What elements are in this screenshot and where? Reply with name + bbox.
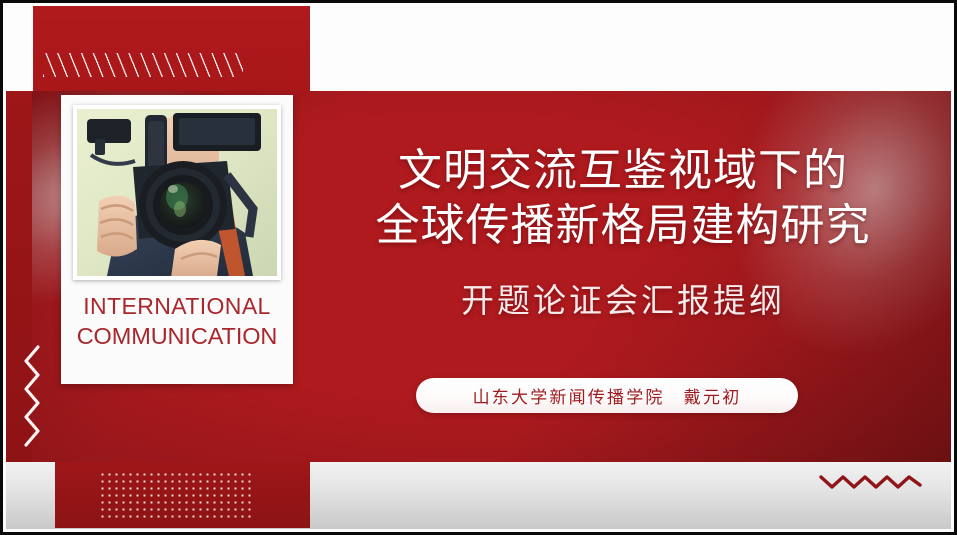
title-line-2: 全球传播新格局建构研究 — [333, 198, 913, 253]
presentation-slide: INTERNATIONAL COMMUNICATION 文明交流互鉴视域下的 全… — [0, 0, 957, 535]
title-line-1: 文明交流互鉴视域下的 — [333, 143, 913, 198]
red-zigzag-horizontal-icon — [819, 469, 929, 493]
card-caption: INTERNATIONAL COMMUNICATION — [61, 291, 293, 351]
photo-frame — [73, 105, 281, 280]
slide-title: 文明交流互鉴视域下的 全球传播新格局建构研究 — [333, 143, 913, 253]
videographer-photo — [77, 109, 277, 276]
top-right-white-area — [310, 6, 951, 91]
top-left-white-notch — [6, 6, 33, 91]
bottom-red-block — [55, 462, 310, 528]
dot-grid-icon — [99, 471, 251, 519]
left-info-card: INTERNATIONAL COMMUNICATION — [61, 95, 293, 384]
caption-line-1: INTERNATIONAL — [83, 293, 271, 319]
caption-line-2: COMMUNICATION — [61, 321, 293, 351]
white-zigzag-vertical-icon — [20, 345, 46, 455]
slide-subtitle: 开题论证会汇报提纲 — [333, 279, 913, 323]
author-text: 山东大学新闻传播学院 戴元初 — [473, 383, 742, 408]
author-pill: 山东大学新闻传播学院 戴元初 — [416, 378, 798, 413]
top-red-block — [33, 6, 310, 91]
diagonal-hatch-icon — [43, 53, 243, 77]
